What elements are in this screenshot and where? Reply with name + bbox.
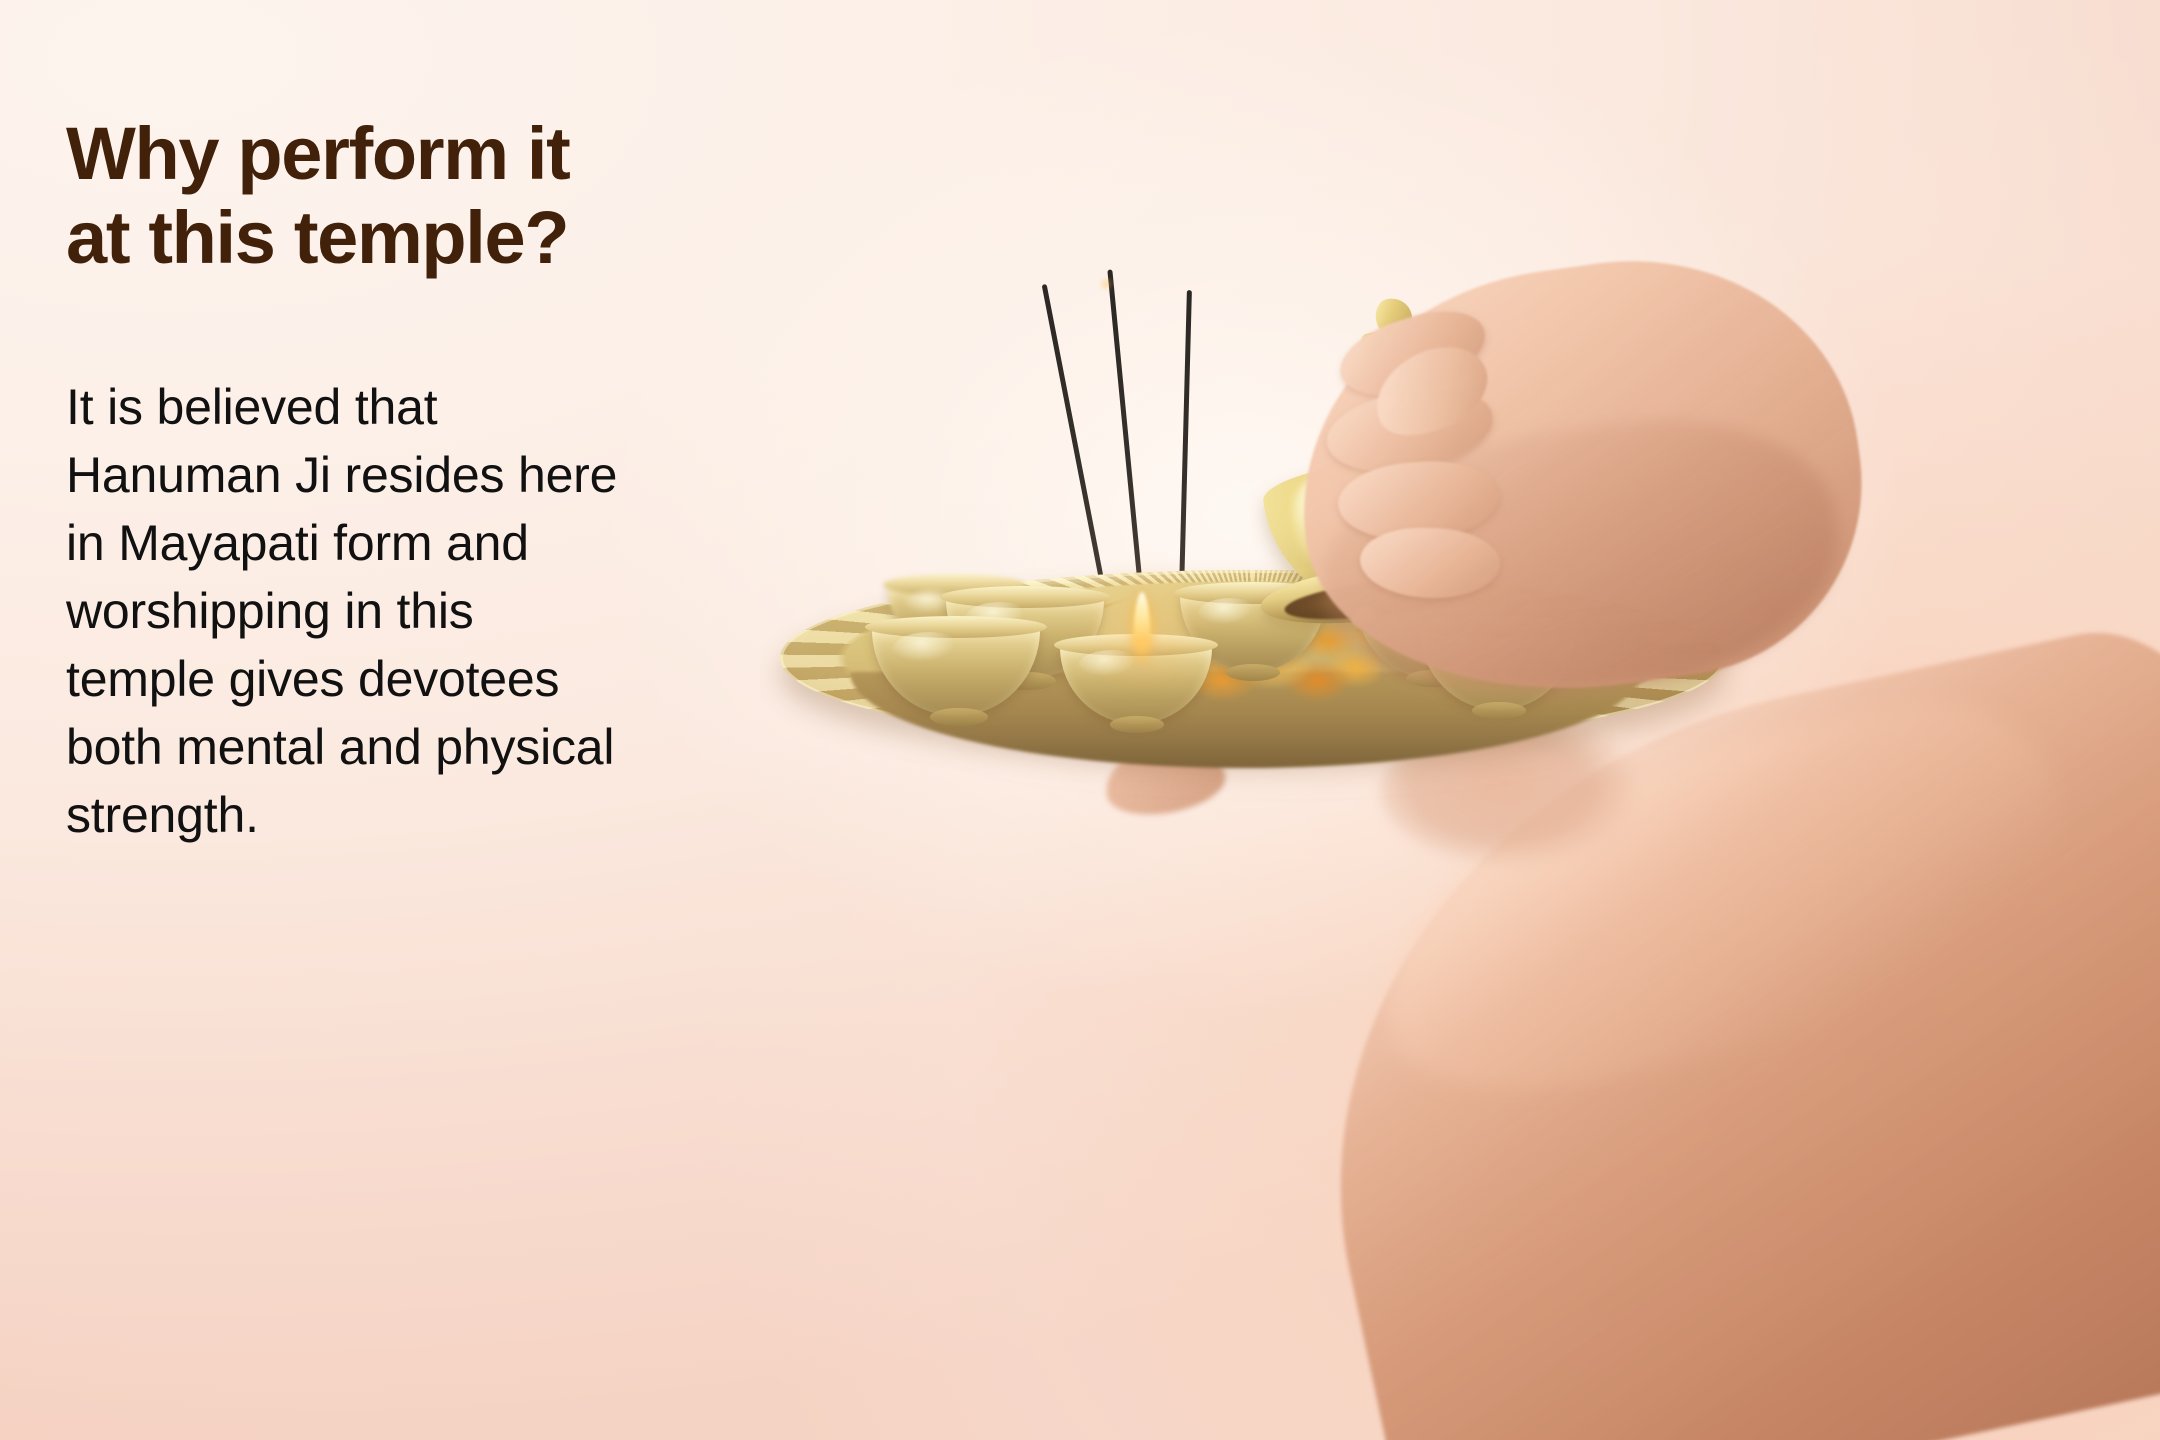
page-title: Why perform it at this temple?	[66, 112, 766, 281]
bowl-foot	[1472, 702, 1526, 719]
slide-canvas: Why perform it at this temple? It is bel…	[0, 0, 2160, 1440]
aarti-photograph	[760, 0, 2160, 1440]
incense-ember	[1098, 276, 1114, 292]
bowl-foot	[1226, 664, 1280, 681]
bowl-foot	[930, 708, 988, 726]
body-paragraph: It is believed that Hanuman Ji resides h…	[66, 281, 766, 849]
text-panel: Why perform it at this temple? It is bel…	[66, 112, 766, 849]
